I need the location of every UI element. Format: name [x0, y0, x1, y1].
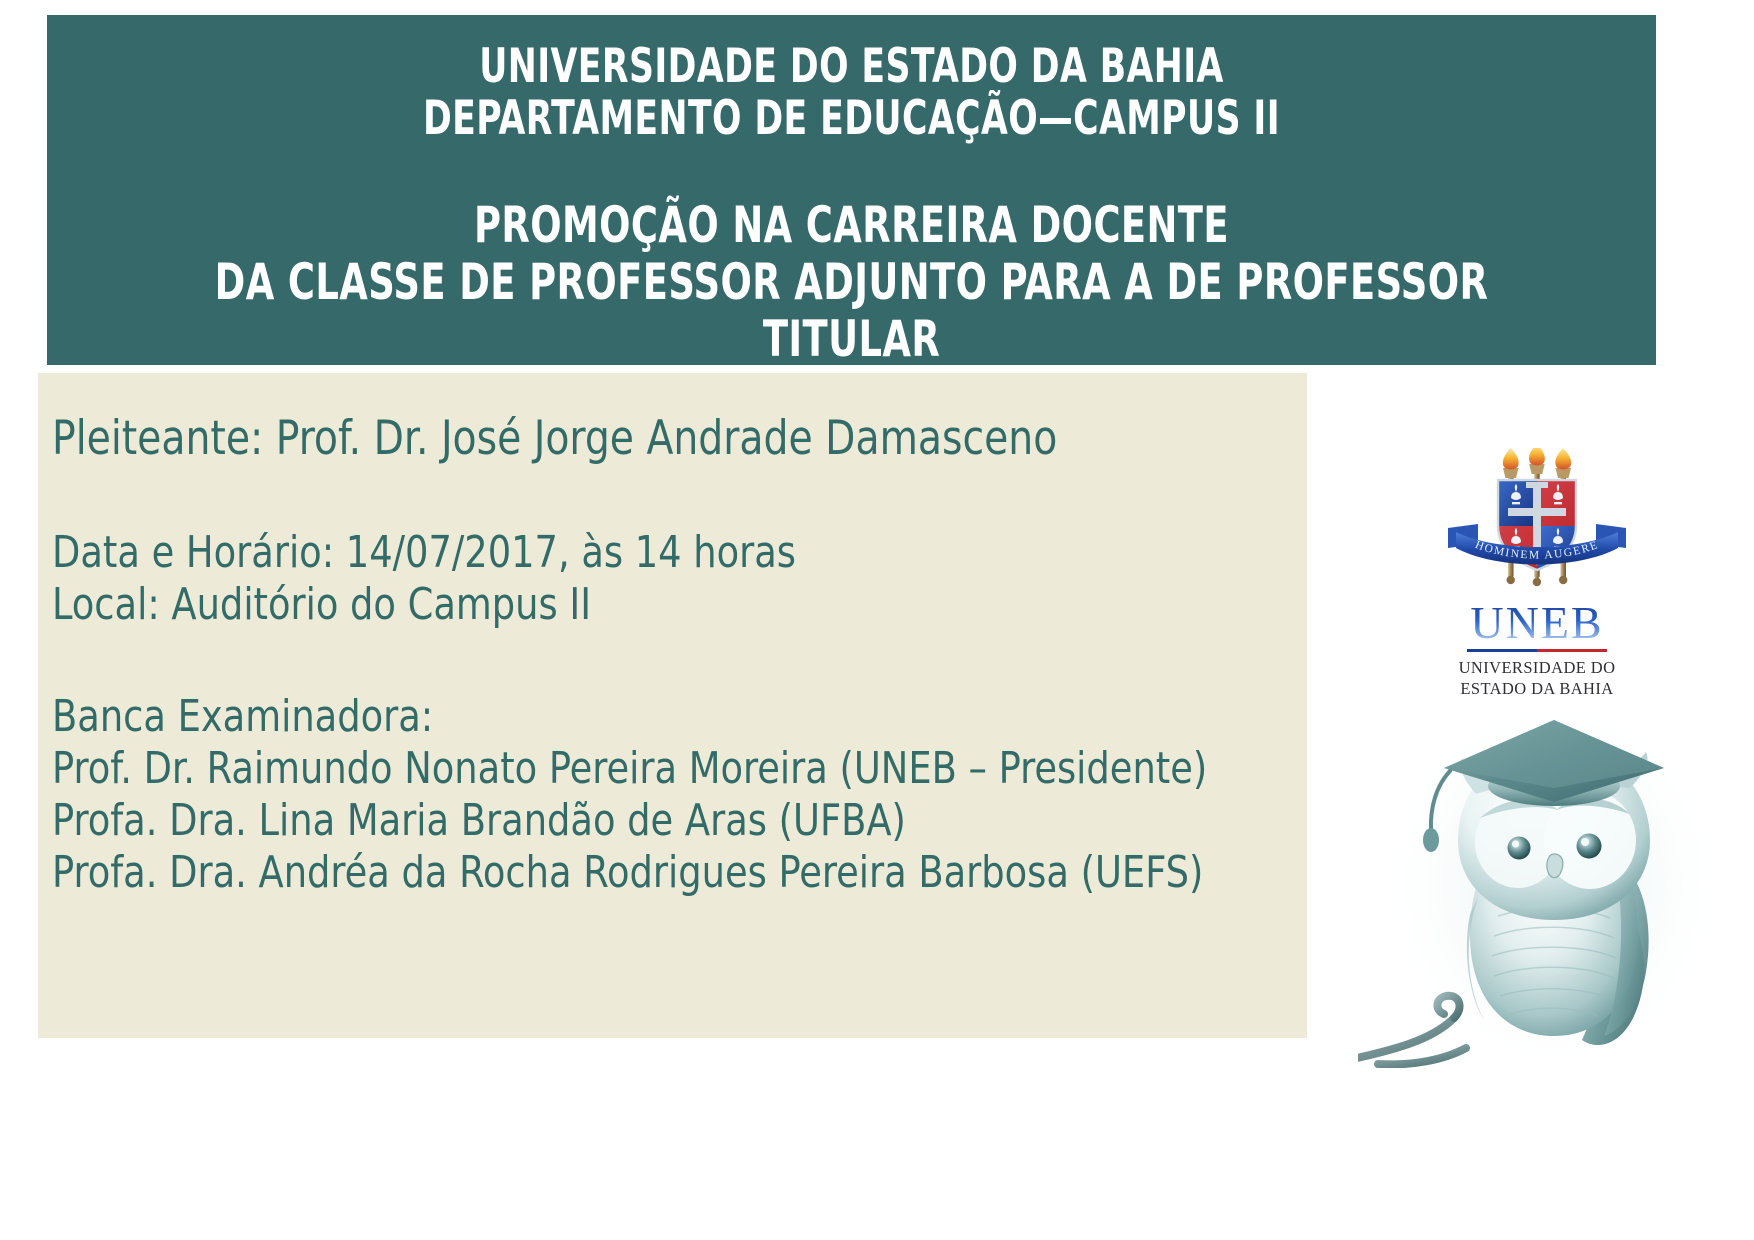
uneb-logo: HOMINEM AUGERE UNEB UNIVERSIDADE DO ESTA…	[1442, 448, 1632, 699]
uneb-rule-bars	[1467, 649, 1607, 652]
local-line: Local: Auditório do Campus II	[52, 579, 1219, 631]
banca-member-presidente: Prof. Dr. Raimundo Nonato Pereira Moreir…	[52, 743, 1219, 795]
header-event-line-3: TITULAR	[203, 311, 1499, 368]
header-event-line-1: PROMOÇÃO NA CARREIRA DOCENTE	[203, 197, 1499, 254]
content-spacer-2	[52, 631, 1219, 661]
owl-beak	[1547, 854, 1563, 878]
banca-label: Banca Examinadora:	[52, 691, 1219, 743]
poster-canvas: UNIVERSIDADE DO ESTADO DA BAHIA DEPARTAM…	[0, 0, 1754, 1240]
header-university-name: UNIVERSIDADE DO ESTADO DA BAHIA	[203, 41, 1499, 93]
content-spacer-2b	[52, 661, 1219, 691]
owl-graduate-illustration	[1358, 668, 1738, 1068]
uneb-rule-blue	[1467, 649, 1537, 652]
pleiteante-line: Pleiteante: Prof. Dr. José Jorge Andrade…	[52, 411, 1219, 467]
header-banner: UNIVERSIDADE DO ESTADO DA BAHIA DEPARTAM…	[47, 15, 1656, 365]
header-department-name: DEPARTAMENTO DE EDUCAÇÃO—CAMPUS II	[203, 93, 1499, 145]
owl-eye-left	[1508, 837, 1531, 860]
header-spacer	[61, 145, 1642, 197]
owl-eye-right	[1577, 834, 1602, 859]
content-panel: Pleiteante: Prof. Dr. José Jorge Andrade…	[38, 373, 1307, 1038]
uneb-rule-red	[1537, 649, 1607, 652]
uneb-wordmark: UNEB	[1470, 600, 1603, 646]
uneb-crest-icon: HOMINEM AUGERE	[1442, 448, 1632, 598]
content-spacer-1	[52, 467, 1219, 497]
owl-cap-tassel-knot	[1423, 828, 1439, 852]
banca-member-uefs: Profa. Dra. Andréa da Rocha Rodrigues Pe…	[52, 847, 1219, 899]
header-event-line-2: DA CLASSE DE PROFESSOR ADJUNTO PARA A DE…	[203, 254, 1499, 311]
data-horario-line: Data e Horário: 14/07/2017, às 14 horas	[52, 527, 1219, 579]
banca-member-ufba: Profa. Dra. Lina Maria Brandão de Aras (…	[52, 795, 1219, 847]
content-spacer-1b	[52, 497, 1219, 527]
